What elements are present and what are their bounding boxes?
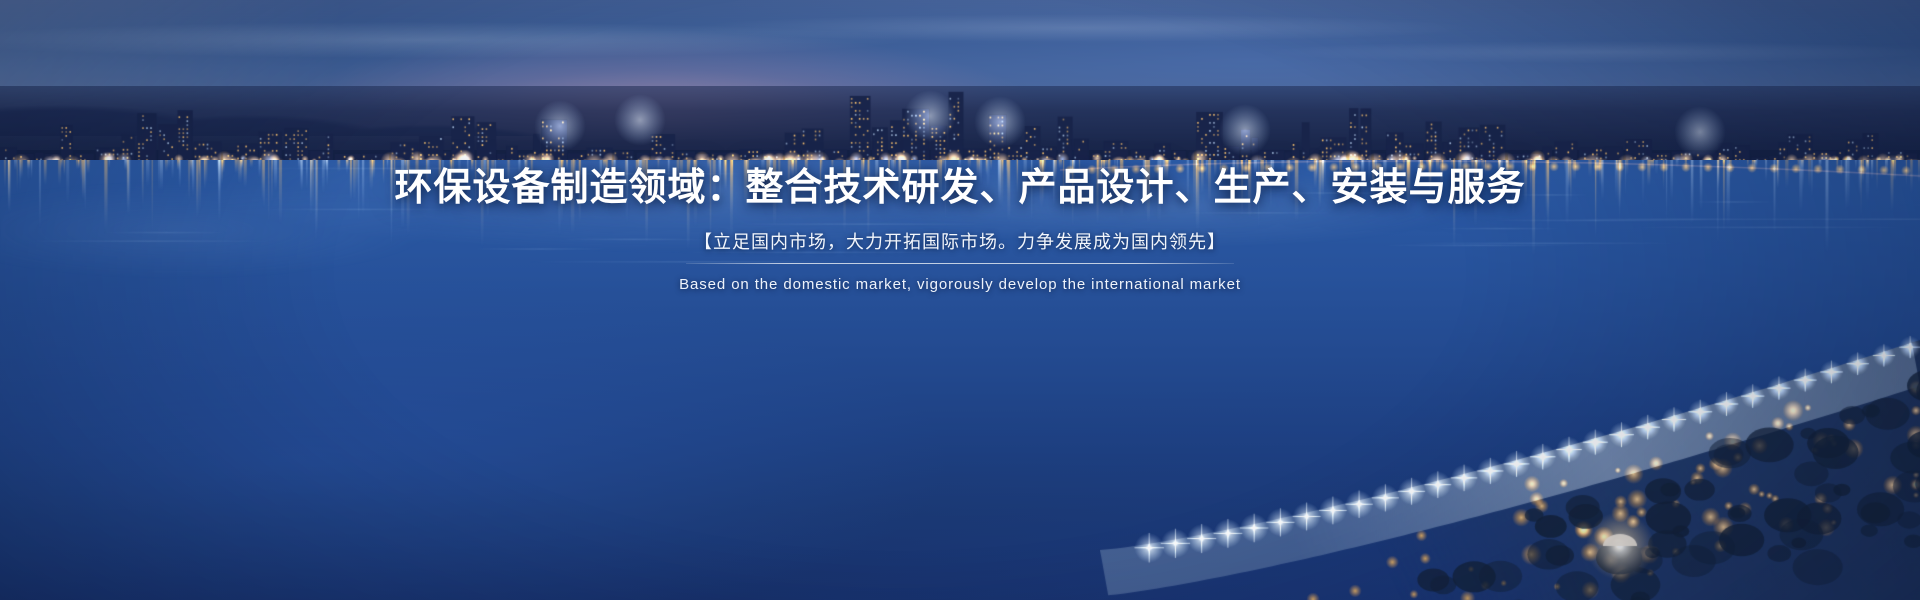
banner-subline-english: Based on the domestic market, vigorously… — [679, 276, 1241, 293]
divider-rule — [686, 263, 1234, 264]
text-overlay: 环保设备制造领域：整合技术研发、产品设计、生产、安装与服务 【立足国内市场，大力… — [0, 0, 1920, 600]
banner-headline: 环保设备制造领域：整合技术研发、产品设计、生产、安装与服务 — [394, 167, 1525, 211]
banner-tagline: 【立足国内市场，大力开拓国际市场。力争发展成为国内领先】 — [694, 228, 1226, 254]
hero-banner: 环保设备制造领域：整合技术研发、产品设计、生产、安装与服务 【立足国内市场，大力… — [0, 0, 1920, 600]
